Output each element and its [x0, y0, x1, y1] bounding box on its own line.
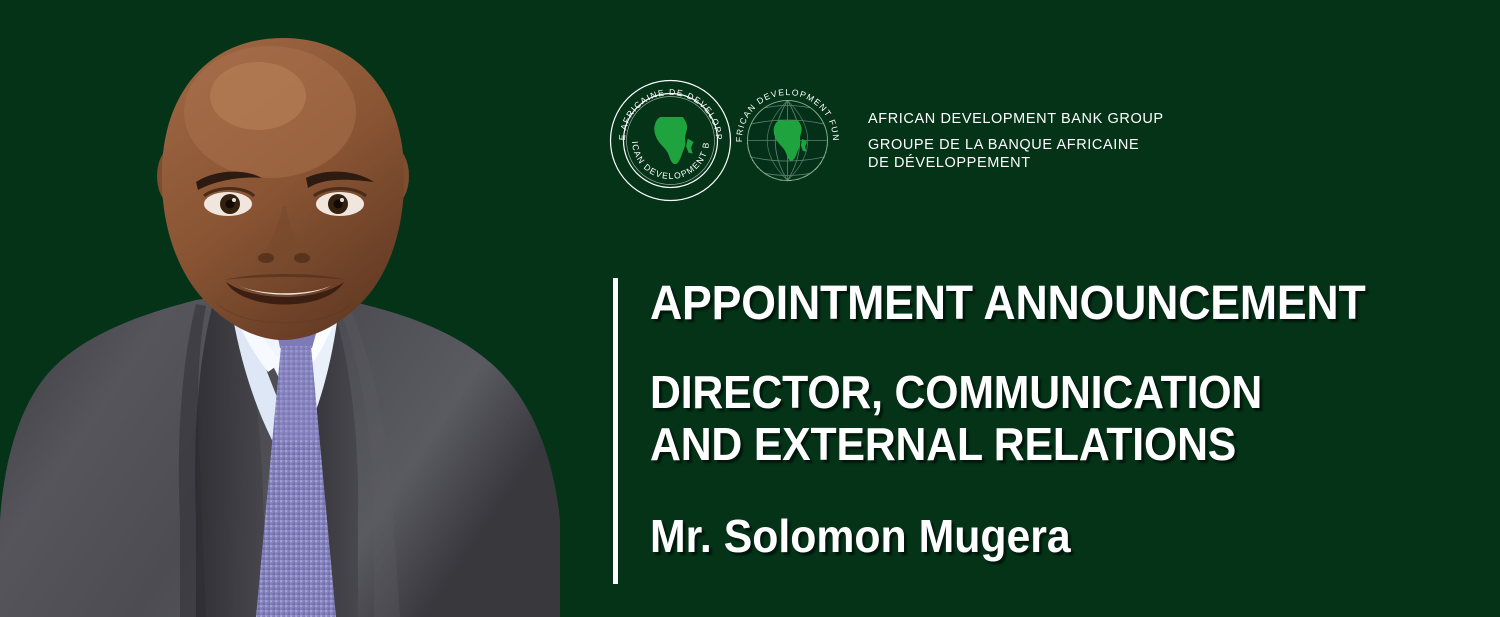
afdb-circular-seal-icon: BANQUE AFRICAINE DE DEVELOPPEMENT AFRICA… [608, 78, 733, 203]
vertical-divider [613, 278, 618, 584]
job-title-line-2: AND EXTERNAL RELATIONS [650, 419, 1422, 471]
organization-names: AFRICAN DEVELOPMENT BANK GROUP GROUPE DE… [868, 78, 1164, 173]
job-title-line-1: DIRECTOR, COMMUNICATION [650, 367, 1422, 419]
portrait-photo [0, 0, 600, 617]
afdb-logo-lockup: BANQUE AFRICAINE DE DEVELOPPEMENT AFRICA… [608, 78, 1164, 203]
announcement-job-title: DIRECTOR, COMMUNICATION AND EXTERNAL REL… [650, 329, 1422, 471]
organization-name-fr: GROUPE DE LA BANQUE AFRICAINE DE DÉVELOP… [868, 136, 1164, 173]
announcement-text-block: APPOINTMENT ANNOUNCEMENT DIRECTOR, COMMU… [650, 280, 1480, 560]
adf-globe-seal-icon: AFRICAN DEVELOPMENT FUND FONDS AFRICAIN … [725, 78, 850, 203]
announcement-headline: APPOINTMENT ANNOUNCEMENT [650, 280, 1422, 329]
appointment-announcement-banner: BANQUE AFRICAINE DE DEVELOPPEMENT AFRICA… [0, 0, 1500, 617]
organization-name-en: AFRICAN DEVELOPMENT BANK GROUP [868, 110, 1164, 129]
organization-name-fr-line2: DE DÉVELOPPEMENT [868, 154, 1164, 173]
appointee-name: Mr. Solomon Mugera [650, 471, 1422, 560]
organization-name-fr-line1: GROUPE DE LA BANQUE AFRICAINE [868, 136, 1164, 155]
